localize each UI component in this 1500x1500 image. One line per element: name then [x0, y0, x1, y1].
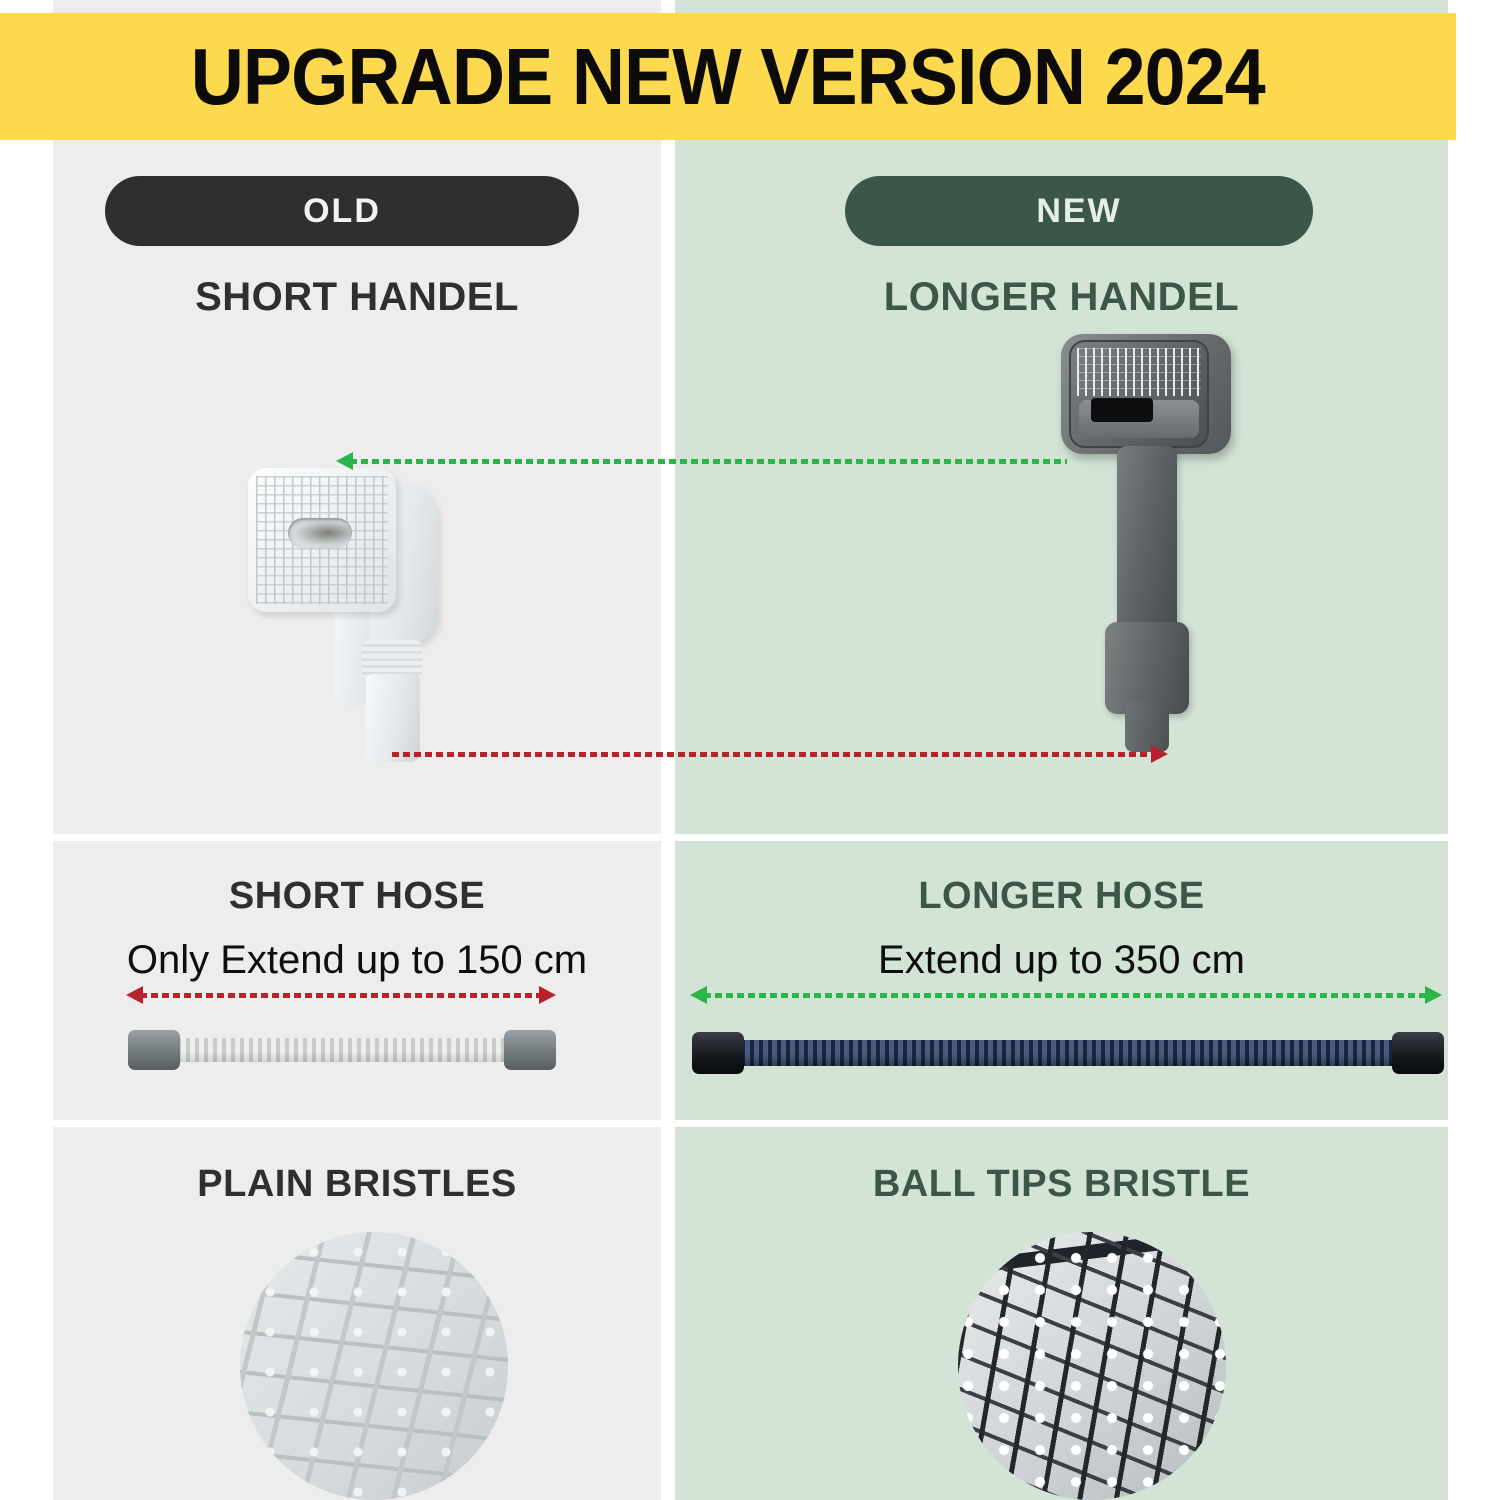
- old-handle-brush-image: [248, 462, 438, 762]
- new-brush-ball-tip-pins: [1077, 348, 1201, 396]
- heading-old-handle: SHORT HANDEL: [53, 275, 661, 320]
- dotted-line: [704, 993, 1428, 998]
- subtext-new-hose-length: Extend up to 350 cm: [675, 938, 1448, 983]
- arrow-head-right-icon: [539, 986, 556, 1004]
- green-comparison-arrow-handle-top: [336, 452, 1081, 470]
- title-banner: UPGRADE NEW VERSION 2024: [0, 13, 1456, 140]
- ball-tips-bristle-closeup-image: [958, 1232, 1226, 1500]
- old-hose-connector-left: [128, 1030, 180, 1070]
- red-measure-arrow-old-hose: [126, 986, 556, 1004]
- ball-tips-white-balls: [958, 1232, 1226, 1500]
- new-hose-connector-left: [692, 1032, 744, 1074]
- heading-old-hose: SHORT HOSE: [53, 875, 661, 918]
- arrow-head-right-icon: [1151, 745, 1168, 763]
- plain-bristles-closeup-image: [240, 1232, 508, 1500]
- new-hose-connector-right: [1392, 1032, 1444, 1074]
- new-handle-brush-image: [1055, 334, 1245, 752]
- old-brush-oval-opening: [288, 518, 352, 548]
- old-hose-image: [128, 1030, 556, 1070]
- arrow-head-right-icon: [1425, 986, 1442, 1004]
- dotted-line: [140, 993, 542, 998]
- red-comparison-arrow-handle-bottom: [378, 745, 1168, 763]
- old-hose-corrugated-tube: [168, 1038, 516, 1062]
- badge-new: NEW: [845, 176, 1313, 246]
- dotted-line: [350, 459, 1067, 464]
- new-brush-coupler: [1105, 622, 1189, 714]
- green-measure-arrow-new-hose: [690, 986, 1442, 1004]
- old-hose-connector-right: [504, 1030, 556, 1070]
- new-brush-intake-slot: [1091, 398, 1153, 422]
- heading-new-hose: LONGER HOSE: [675, 875, 1448, 918]
- dotted-line: [392, 752, 1154, 757]
- new-brush-long-handle: [1117, 446, 1177, 642]
- heading-new-handle: LONGER HANDEL: [675, 275, 1448, 320]
- heading-new-bristle: BALL TIPS BRISTLE: [675, 1163, 1448, 1206]
- new-hose-image: [692, 1032, 1444, 1074]
- badge-old: OLD: [105, 176, 579, 246]
- new-brush-face: [1069, 340, 1209, 448]
- plain-bristle-tips: [240, 1232, 508, 1500]
- page-title: UPGRADE NEW VERSION 2024: [191, 31, 1265, 123]
- new-hose-corrugated-tube: [732, 1040, 1404, 1066]
- heading-old-bristle: PLAIN BRISTLES: [53, 1163, 661, 1206]
- subtext-old-hose-length: Only Extend up to 150 cm: [53, 938, 661, 983]
